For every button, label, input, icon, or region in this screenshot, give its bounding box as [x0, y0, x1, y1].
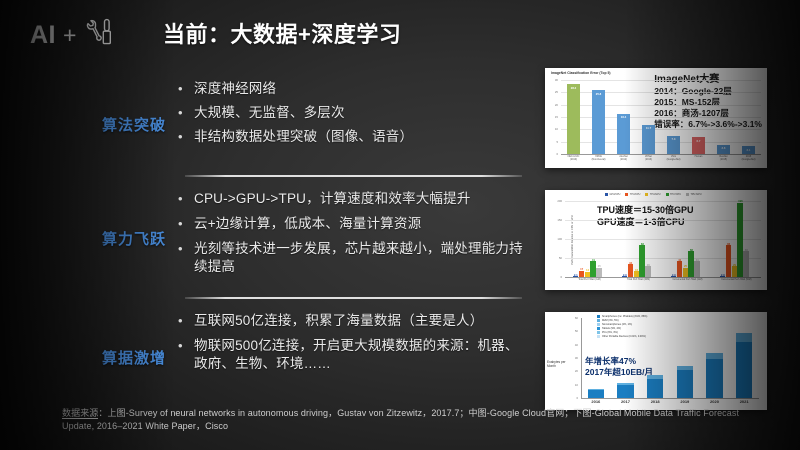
chart-ytick: 60: [565, 316, 578, 320]
chart-bar-value: 196: [735, 199, 745, 203]
legend-item: M2M (3%, 5%): [597, 319, 647, 322]
bullet-text: CPU->GPU->TPU，计算速度和效率大幅提升: [194, 190, 471, 208]
legend-swatch: [645, 193, 648, 196]
chart-ytick: 25: [545, 90, 558, 94]
chart-axis: [581, 398, 759, 399]
legend-item: Other Portable Devices (0.01%, 0.00%): [597, 335, 647, 338]
chart-xtick: 2020: [700, 400, 730, 405]
chart-axis: [561, 154, 761, 155]
legend-label: PCs (6%, 3%): [602, 331, 618, 334]
legend-swatch: [686, 193, 689, 196]
chart-bar-value: 28.2: [567, 86, 580, 90]
chart-bar-segment: [588, 389, 604, 390]
chart-bar-value: 3.6: [717, 146, 730, 150]
chart-annotation-imagenet: ImageNet大赛 2014：Google-22层 2015：MS-152层 …: [654, 74, 762, 130]
chart-xtick: 2017: [611, 400, 641, 405]
chart-axis: [565, 277, 761, 278]
chart-legend: Smartphones (inc. Phablets) (81%, 86%)M2…: [597, 315, 647, 339]
chart-bar-value: 83: [637, 242, 647, 246]
legend-item: Nonsmartphones (2%, 1%): [597, 323, 647, 326]
chart-xtick: 2019: [670, 400, 700, 405]
chart-bar-segment: [617, 383, 633, 385]
annotation-line: TPU速度＝15-30倍GPU: [597, 204, 694, 216]
chart-bar-segment: [736, 333, 752, 342]
bullet-list-data: • 互联网50亿连接，积累了海量数据（主要是人） • 物联网500亿连接，开启更…: [178, 310, 528, 405]
chart-bar: [688, 251, 693, 277]
legend-swatch: [597, 327, 600, 330]
chart-bar-value: 11.7: [642, 126, 655, 130]
wrench-screwdriver-icon: [83, 18, 117, 53]
chart-bar-value: 3.1: [742, 148, 755, 152]
bullet-dot-icon: •: [178, 240, 194, 258]
logo-ai-text: AI: [30, 23, 56, 48]
annotation-line: 2017年超10EB/月: [585, 367, 653, 378]
chart-bar: [617, 114, 630, 154]
chart-ylabel: Exabytes per Month: [547, 360, 573, 368]
bullet-dot-icon: •: [178, 80, 194, 98]
chart-bar: [732, 266, 737, 277]
section-label-text: 算力飞跃: [102, 228, 166, 249]
chart-bar: [736, 342, 752, 398]
legend-swatch: [597, 335, 600, 338]
chart-mobile-traffic: Smartphones (inc. Phablets) (81%, 86%)M2…: [545, 312, 767, 410]
list-item: • 物联网500亿连接，开启更大规模数据的来源：机器、政府、生物、环境……: [178, 337, 528, 373]
footer-source: 数据来源：上图-Survey of neural networks in aut…: [62, 407, 752, 433]
chart-ytick: 15: [545, 115, 558, 119]
page-title: 当前：大数据+深度学习: [163, 17, 401, 49]
chart-ytick: 0: [545, 152, 558, 156]
chart-ytick: 50: [547, 256, 562, 260]
chart-xtick: 2016 (GoogLeNet): [735, 156, 762, 162]
chart-bar: [645, 266, 650, 277]
chart-bar-value: 68: [741, 248, 751, 252]
chart-bar: [588, 390, 604, 398]
legend-item: TPU/GPU: [645, 193, 660, 196]
chart-bar: [706, 359, 722, 398]
chart-title: ImageNet Classification Error (Top 5): [551, 71, 610, 75]
chart-bar-value: 41: [675, 258, 685, 262]
chart-bar: [617, 385, 633, 398]
bullet-dot-icon: •: [178, 128, 194, 146]
legend-item: TPU'/GPU: [686, 193, 702, 196]
list-item: • 光刻等技术进一步发展，芯片越来越小，端处理能力持续提高: [178, 240, 528, 276]
chart-xtick: Incremental Perf./Watt (WM): [712, 279, 761, 282]
chart-bar: [639, 245, 644, 277]
legend-label: M2M (3%, 5%): [602, 319, 619, 322]
footer-source-label: 数据来源: [62, 408, 98, 419]
chart-xtick: ZFNet (2013): [635, 156, 662, 162]
chart-ytick: 20: [545, 103, 558, 107]
legend-item: TPU'/CPU: [666, 193, 681, 196]
chart-bar-value: 6.7: [692, 139, 705, 143]
bullet-text: 深度神经网络: [194, 80, 276, 98]
chart-imagenet: ImageNet Classification Error (Top 5) Im…: [545, 68, 767, 168]
chart-xtick: ResNet (2015): [710, 156, 737, 162]
chart-bar-value: 25: [594, 264, 604, 268]
bullet-text: 非结构数据处理突破（图像、语音）: [194, 128, 413, 146]
bullet-list-computing: • CPU->GPU->TPU，计算速度和效率大幅提升 • 云+边缘计算，低成本…: [178, 188, 528, 288]
list-item: • 大规模、无监督、多层次: [178, 104, 528, 122]
chart-xtick: VGG (GoogLeNet): [660, 156, 687, 162]
chart-ytick: 20: [565, 369, 578, 373]
chart-ytick: 30: [565, 356, 578, 360]
chart-xtick: Human: [685, 156, 712, 159]
chart-xtick: AlexNet (2012): [610, 156, 637, 162]
chart-xtick: Total Perf./Watt (WM): [614, 279, 663, 282]
legend-item: Smartphones (inc. Phablets) (81%, 86%): [597, 315, 647, 318]
legend-swatch: [597, 323, 600, 326]
section-label-text: 算法突破: [102, 114, 166, 135]
chart-bar-value: 7.3: [667, 137, 680, 141]
bullet-dot-icon: •: [178, 337, 194, 355]
list-item: • CPU->GPU->TPU，计算速度和效率大幅提升: [178, 190, 528, 208]
chart-bar-value: 68: [686, 248, 696, 252]
chart-bar-value: 83: [724, 242, 734, 246]
section-label-text: 算据激增: [102, 347, 166, 368]
chart-xtick: 2021: [729, 400, 759, 405]
chart-xtick: 2016: [581, 400, 611, 405]
bullet-text: 光刻等技术进一步发展，芯片越来越小，端处理能力持续提高: [194, 240, 528, 276]
chart-gridline: [561, 80, 761, 81]
section-divider-2: [185, 297, 522, 299]
legend-swatch: [597, 319, 600, 322]
chart-bar-value: 41: [588, 258, 598, 262]
chart-xtick: NEC-UIUC (2010): [560, 156, 587, 162]
bullet-dot-icon: •: [178, 104, 194, 122]
legend-label: Tablets (9%, 4%): [602, 327, 621, 330]
chart-bar-value: 29: [643, 263, 653, 267]
list-item: • 深度神经网络: [178, 80, 528, 98]
chart-bar-value: 34: [626, 261, 636, 265]
chart-bar: [683, 268, 688, 278]
legend-swatch: [605, 193, 608, 196]
chart-gridline: [565, 239, 761, 240]
chart-gridline: [561, 105, 761, 106]
list-item: • 云+边缘计算，低成本、海量计算资源: [178, 215, 528, 233]
footer-source-text: ：上图-Survey of neural networks in autonom…: [62, 408, 739, 431]
chart-gridline: [561, 129, 761, 130]
chart-xtick: XRCE (Non-Neural): [585, 156, 612, 162]
legend-item: TPU/CPU: [625, 193, 640, 196]
chart-ytick: 40: [565, 343, 578, 347]
chart-ytick: 50: [565, 329, 578, 333]
chart-bar: [743, 251, 748, 277]
chart-bar-value: 25.8: [592, 92, 605, 96]
legend-label: TPU'/CPU: [670, 193, 681, 196]
section-label-data: 算据激增: [0, 310, 178, 405]
annotation-line: GPU速度＝1-3倍CPU: [597, 216, 694, 228]
bullet-text: 云+边缘计算，低成本、海量计算资源: [194, 215, 421, 233]
chart-bar: [567, 84, 580, 154]
chart-axis: [581, 318, 582, 398]
bullet-dot-icon: •: [178, 215, 194, 233]
chart-ytick: 200: [547, 199, 562, 203]
chart-xtick: 2018: [640, 400, 670, 405]
chart-ytick: 0: [565, 396, 578, 400]
chart-ytick: 100: [547, 237, 562, 241]
annotation-line: 2015：MS-152层: [654, 97, 762, 108]
list-item: • 互联网50亿连接，积累了海量数据（主要是人）: [178, 312, 528, 330]
chart-bar: [726, 245, 731, 277]
legend-label: TPU/CPU: [630, 193, 641, 196]
chart-ytick: 5: [545, 140, 558, 144]
chart-annotation-traffic: 年增长率47% 2017年超10EB/月: [585, 356, 653, 378]
legend-swatch: [597, 331, 600, 334]
chart-gridline: [565, 220, 761, 221]
chart-tpu-performance: GPU/CPUTPU/CPUTPU/GPUTPU'/CPUTPU'/GPU Pe…: [545, 190, 767, 290]
chart-ytick: 30: [545, 78, 558, 82]
legend-item: PCs (6%, 3%): [597, 331, 647, 334]
chart-bar: [694, 261, 699, 277]
legend-swatch: [666, 193, 669, 196]
chart-bar-value: 41: [692, 258, 702, 262]
legend-label: Other Portable Devices (0.01%, 0.00%): [602, 335, 646, 338]
chart-gridline: [561, 117, 761, 118]
section-label-computing: 算力飞跃: [0, 188, 178, 288]
legend-swatch: [625, 193, 628, 196]
brand-logo: AI +: [30, 18, 117, 53]
bullet-list-algorithm: • 深度神经网络 • 大规模、无监督、多层次 • 非结构数据处理突破（图像、语音…: [178, 78, 528, 170]
legend-item: Tablets (9%, 4%): [597, 327, 647, 330]
bullet-text: 互联网50亿连接，积累了海量数据（主要是人）: [194, 312, 483, 330]
chart-legend: GPU/CPUTPU/CPUTPU/GPUTPU'/CPUTPU'/GPU: [605, 193, 702, 196]
legend-label: TPU/GPU: [650, 193, 661, 196]
chart-ytick: 10: [565, 383, 578, 387]
chart-bar: [737, 203, 742, 277]
legend-label: Nonsmartphones (2%, 1%): [602, 323, 632, 326]
bullet-dot-icon: •: [178, 312, 194, 330]
chart-bar-segment: [647, 375, 663, 378]
chart-ytick: 10: [545, 127, 558, 131]
bullet-text: 大规模、无监督、多层次: [194, 104, 345, 122]
legend-item: GPU/CPU: [605, 193, 620, 196]
chart-bar: [677, 370, 693, 398]
list-item: • 非结构数据处理突破（图像、语音）: [178, 128, 528, 146]
chart-bar-segment: [706, 353, 722, 359]
bullet-dot-icon: •: [178, 190, 194, 208]
chart-xtick: Incremental Perf./Watt (GM): [663, 279, 712, 282]
chart-xtick: Total Perf./Watt (GM): [565, 279, 614, 282]
legend-label: Smartphones (inc. Phablets) (81%, 86%): [602, 315, 647, 318]
chart-ytick: 150: [547, 218, 562, 222]
chart-gridline: [565, 201, 761, 202]
bullet-text: 物联网500亿连接，开启更大规模数据的来源：机器、政府、生物、环境……: [194, 337, 528, 373]
section-divider-1: [185, 175, 522, 177]
chart-bar: [647, 379, 663, 398]
chart-bar-value: 16.4: [617, 115, 630, 119]
logo-plus-sign: +: [63, 24, 76, 47]
chart-annotation-tpu: TPU速度＝15-30倍GPU GPU速度＝1-3倍CPU: [597, 204, 694, 228]
legend-label: TPU'/GPU: [691, 193, 702, 196]
chart-bar: [596, 268, 601, 278]
chart-ytick: 0: [547, 275, 562, 279]
chart-bar: [592, 90, 605, 154]
annotation-line: 年增长率47%: [585, 356, 653, 367]
chart-gridline: [561, 92, 761, 93]
chart-bar-segment: [677, 366, 693, 370]
chart-gridline: [561, 142, 761, 143]
slide-root: AI + 当前：大数据+深度学习 算法突破 • 深度神经网络 • 大规模、无监督…: [0, 0, 800, 450]
section-label-algorithm: 算法突破: [0, 78, 178, 170]
legend-label: GPU/CPU: [610, 193, 621, 196]
legend-swatch: [597, 315, 600, 318]
